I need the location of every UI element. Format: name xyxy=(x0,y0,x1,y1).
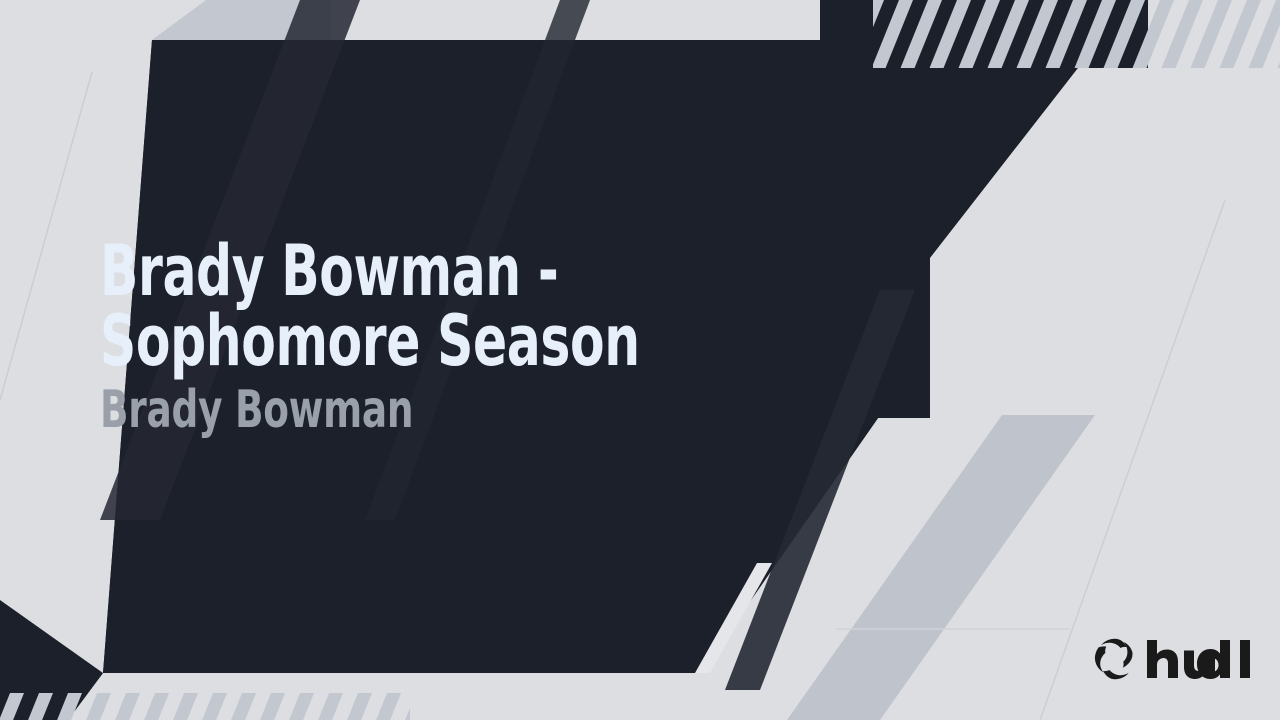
hudl-logo xyxy=(1092,634,1250,684)
title-card: Brady Bowman - Sophomore Season Brady Bo… xyxy=(0,0,1280,720)
title-line-2: Sophomore Season xyxy=(100,306,660,376)
subtitle: Brady Bowman xyxy=(100,382,660,438)
title-text-block: Brady Bowman - Sophomore Season Brady Bo… xyxy=(100,236,800,438)
title-line-1: Brady Bowman - xyxy=(100,236,660,306)
hudl-mark-icon xyxy=(1092,636,1138,682)
hudl-wordmark xyxy=(1146,638,1250,680)
